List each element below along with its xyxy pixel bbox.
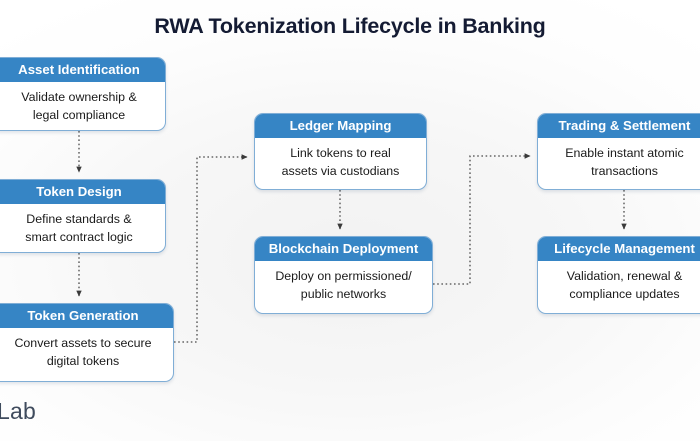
- node-ledger-mapping[interactable]: Ledger Mapping Link tokens to real asset…: [254, 113, 427, 190]
- node-token-design[interactable]: Token Design Define standards & smart co…: [0, 179, 166, 253]
- node-asset-identification[interactable]: Asset Identification Validate ownership …: [0, 57, 166, 131]
- node-lifecycle-management-body: Validation, renewal & compliance updates: [538, 261, 700, 309]
- node-asset-identification-body: Validate ownership & legal compliance: [0, 82, 165, 130]
- node-token-generation[interactable]: Token Generation Convert assets to secur…: [0, 303, 174, 382]
- node-asset-identification-header: Asset Identification: [0, 58, 165, 82]
- node-blockchain-deployment-body: Deploy on permissioned/ public networks: [255, 261, 432, 309]
- watermark-logo: uLab: [0, 398, 36, 425]
- node-trading-settlement[interactable]: Trading & Settlement Enable instant atom…: [537, 113, 700, 190]
- node-lifecycle-management[interactable]: Lifecycle Management Validation, renewal…: [537, 236, 700, 314]
- node-token-design-header: Token Design: [0, 180, 165, 204]
- page-title: RWA Tokenization Lifecycle in Banking: [0, 14, 700, 39]
- node-blockchain-deployment-header: Blockchain Deployment: [255, 237, 432, 261]
- node-lifecycle-management-header: Lifecycle Management: [538, 237, 700, 261]
- node-ledger-mapping-header: Ledger Mapping: [255, 114, 426, 138]
- node-ledger-mapping-body: Link tokens to real assets via custodian…: [255, 138, 426, 186]
- node-trading-settlement-header: Trading & Settlement: [538, 114, 700, 138]
- node-token-design-body: Define standards & smart contract logic: [0, 204, 165, 252]
- connector-token-generation-to-ledger-mapping: [174, 157, 247, 342]
- node-token-generation-body: Convert assets to secure digital tokens: [0, 328, 173, 376]
- node-trading-settlement-body: Enable instant atomic transactions: [538, 138, 700, 186]
- diagram-canvas: RWA Tokenization Lifecycle in Banking: [0, 0, 700, 441]
- connector-blockchain-deployment-to-trading-settlement: [433, 156, 530, 284]
- node-blockchain-deployment[interactable]: Blockchain Deployment Deploy on permissi…: [254, 236, 433, 314]
- node-token-generation-header: Token Generation: [0, 304, 173, 328]
